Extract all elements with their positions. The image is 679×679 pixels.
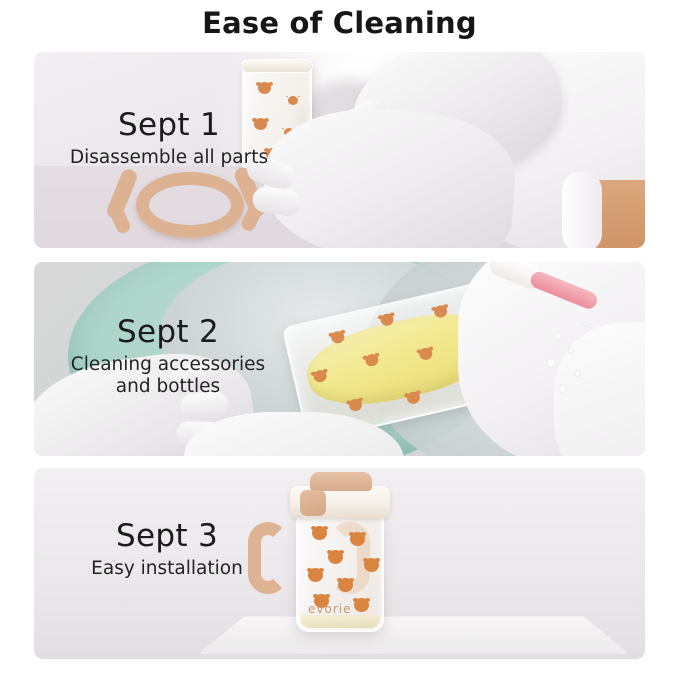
page-title: Ease of Cleaning: [0, 6, 679, 40]
bear-pattern-icon: [258, 82, 271, 94]
bear-pattern-icon: [350, 532, 365, 546]
bottle-handle-ring: [110, 164, 272, 244]
step-3-text-block: Sept 3 Easy installation: [52, 518, 282, 580]
table-surface: [199, 616, 630, 653]
bear-pattern-icon: [308, 568, 323, 582]
step-panel-3: evorie Sept 3 Easy installation: [34, 468, 645, 659]
glove-cuff: [562, 172, 602, 248]
step-2-description-line-1: Cleaning accessories: [52, 354, 284, 376]
soap-bubble: [582, 322, 587, 327]
step-2-label: Sept 2: [52, 314, 284, 350]
bear-pattern-icon: [288, 96, 298, 105]
step-1-text-block: Sept 1 Disassemble all parts: [54, 107, 284, 169]
brand-label: evorie: [308, 602, 351, 616]
soap-bubble: [546, 358, 556, 368]
step-2-description: Cleaning accessories and bottles: [52, 354, 284, 398]
step-1-label: Sept 1: [54, 107, 284, 143]
bear-pattern-icon: [364, 558, 379, 572]
soap-bubble: [554, 332, 562, 340]
cap-lock-button: [300, 490, 326, 516]
soap-bubble: [568, 348, 574, 354]
soap-bubble: [574, 370, 581, 377]
step-panel-2: Sept 2 Cleaning accessories and bottles: [34, 262, 645, 456]
step-3-description: Easy installation: [52, 558, 282, 580]
bear-pattern-icon: [354, 598, 369, 612]
step-2-description-line-2: and bottles: [52, 376, 284, 398]
step-panel-1: Sept 1 Disassemble all parts: [34, 52, 645, 248]
bear-pattern-icon: [312, 526, 327, 540]
cap-flip-lid: [310, 472, 372, 491]
step-3-label: Sept 3: [52, 518, 282, 554]
handle-ring-circle: [136, 172, 244, 238]
bear-pattern-icon: [338, 578, 353, 592]
step-2-text-block: Sept 2 Cleaning accessories and bottles: [52, 314, 284, 398]
step-1-description: Disassemble all parts: [54, 147, 284, 169]
soap-bubble: [558, 384, 567, 393]
bear-pattern-icon: [328, 550, 343, 564]
